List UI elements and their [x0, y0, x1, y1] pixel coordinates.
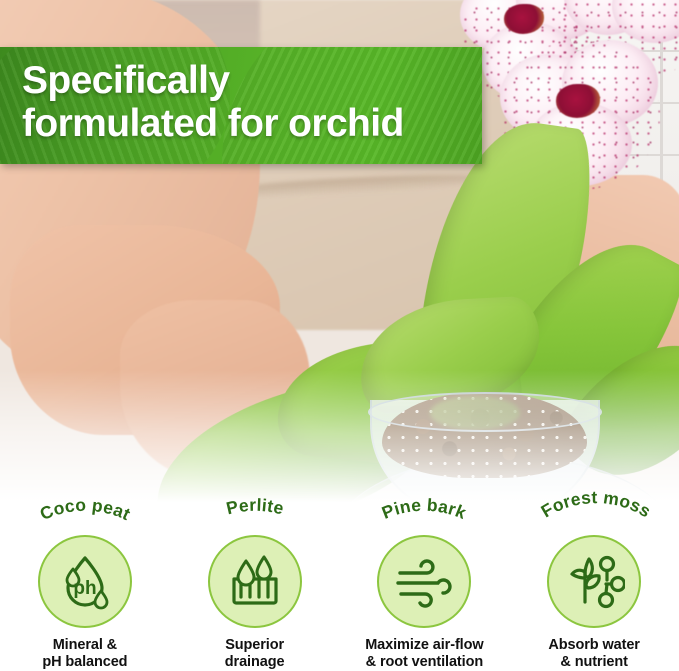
feature-pine-bark[interactable]: Pine bark Maximize air-flow & root venti… [340, 498, 510, 671]
icon-circle-forest-moss [547, 535, 641, 628]
feature-perlite[interactable]: Perlite Superior drainage [170, 498, 340, 671]
headline-line-1: Specifically [22, 59, 482, 102]
caption-line-2: drainage [225, 654, 285, 671]
caption-coco-peat: Mineral & pH balanced [42, 637, 127, 671]
airflow-wind-icon [394, 556, 454, 608]
feature-row: Coco peat ph Mineral & pH balanced Perli… [0, 498, 679, 671]
feature-forest-moss[interactable]: Forest moss Absorb water & nutrient [509, 498, 679, 671]
headline-line-2: formulated for orchid [22, 102, 482, 145]
caption-line-1: Maximize air-flow [365, 637, 483, 654]
caption-line-2: pH balanced [42, 654, 127, 671]
svg-text:Coco peat: Coco peat [37, 495, 134, 525]
drainage-drops-icon [226, 553, 284, 611]
caption-line-2: & root ventilation [365, 654, 483, 671]
svg-text:Perlite: Perlite [224, 495, 286, 519]
icon-circle-coco-peat: ph [38, 535, 132, 628]
caption-forest-moss: Absorb water & nutrient [548, 637, 639, 671]
ph-water-drop-icon: ph [56, 553, 114, 611]
plant-molecule-icon [563, 554, 625, 610]
icon-circle-pine-bark [377, 535, 471, 628]
caption-line-1: Absorb water [548, 637, 639, 654]
caption-perlite: Superior drainage [225, 637, 285, 671]
icon-circle-perlite [208, 535, 302, 628]
headline-banner: Specifically formulated for orchid [0, 47, 482, 164]
arc-text-coco-peat: Coco peat [37, 495, 134, 525]
svg-text:Pine bark: Pine bark [379, 495, 469, 523]
caption-line-1: Superior [225, 637, 285, 654]
arc-text-perlite: Perlite [224, 495, 286, 519]
feature-coco-peat[interactable]: Coco peat ph Mineral & pH balanced [0, 498, 170, 671]
caption-pine-bark: Maximize air-flow & root ventilation [365, 637, 483, 671]
caption-line-1: Mineral & [42, 637, 127, 654]
caption-line-2: & nutrient [548, 654, 639, 671]
ph-badge-text: ph [73, 578, 96, 599]
headline-text: Specifically formulated for orchid [0, 47, 482, 145]
arc-text-pine-bark: Pine bark [379, 495, 469, 523]
